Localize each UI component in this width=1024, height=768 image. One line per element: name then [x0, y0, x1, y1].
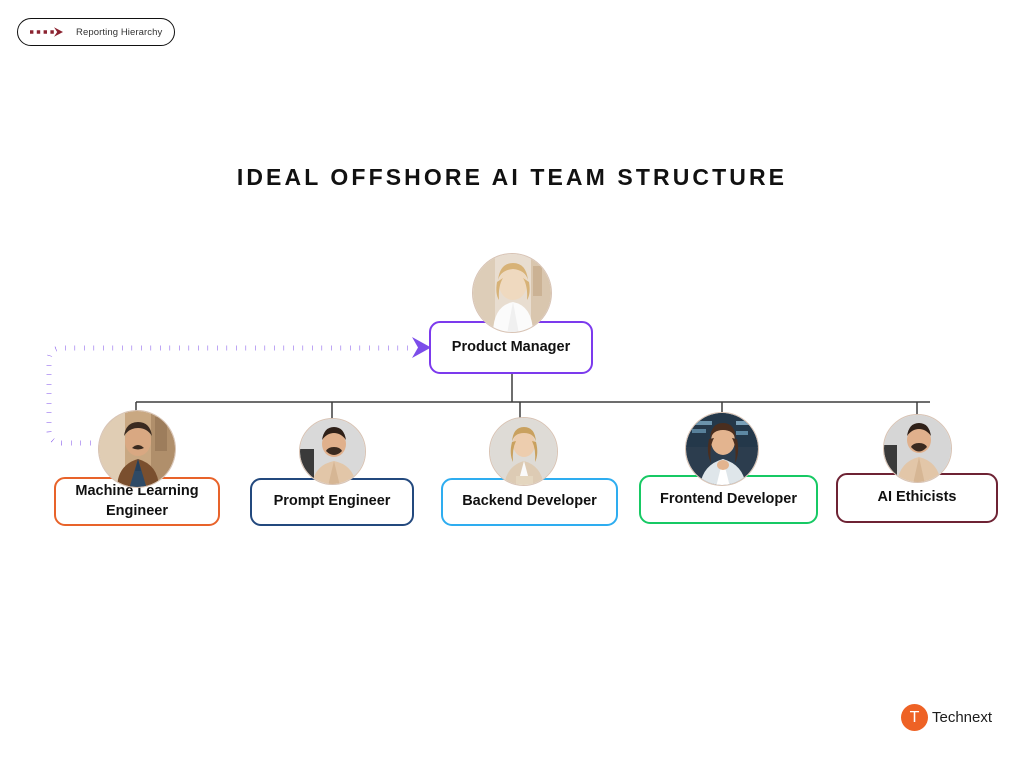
avatar-ai-ethicists: [883, 414, 952, 483]
avatar-backend-developer: [489, 417, 558, 486]
node-label-prompt-engineer: Prompt Engineer: [266, 492, 399, 512]
avatar-product-manager: [472, 253, 552, 333]
node-label-frontend-developer: Frontend Developer: [652, 490, 805, 510]
brand-logo: T Technext: [901, 704, 992, 731]
connector-layer: [0, 0, 1024, 768]
legend-label: Reporting Hierarchy: [76, 27, 162, 38]
avatar-machine-learning-engineer: [98, 410, 176, 488]
dotted-arrow-icon: [28, 26, 68, 38]
node-label-ai-ethicists: AI Ethicists: [870, 488, 965, 508]
technext-logo-icon: T: [901, 704, 928, 731]
node-label-product-manager: Product Manager: [444, 338, 578, 358]
avatar-prompt-engineer: [299, 418, 366, 485]
node-box-prompt-engineer[interactable]: Prompt Engineer: [250, 478, 414, 526]
legend-badge: Reporting Hierarchy: [17, 18, 175, 46]
brand-name: Technext: [932, 709, 992, 726]
node-label-backend-developer: Backend Developer: [454, 492, 605, 512]
page-title: IDEAL OFFSHORE AI TEAM STRUCTURE: [0, 164, 1024, 191]
avatar-frontend-developer: [685, 412, 759, 486]
